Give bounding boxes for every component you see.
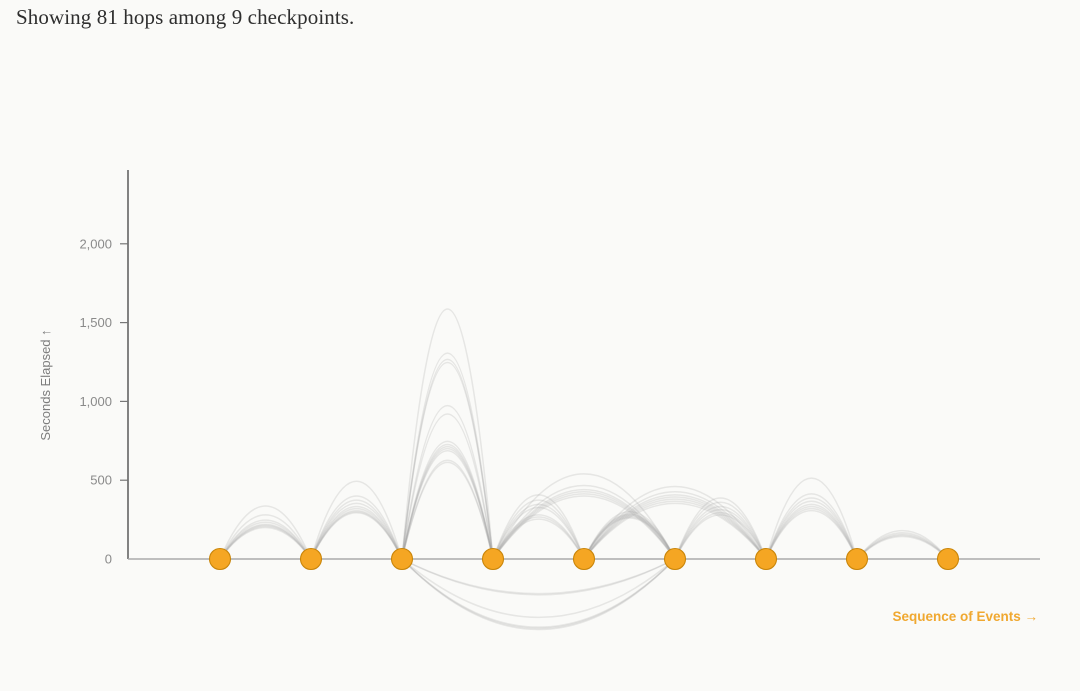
arc-edges-group bbox=[220, 309, 948, 630]
page-root: Showing 81 hops among 9 checkpoints. 050… bbox=[0, 0, 1080, 691]
axis-labels-group: Seconds Elapsed ↑Sequence of Events → bbox=[38, 329, 1038, 624]
y-tick-group: 05001,0001,5002,000 bbox=[79, 236, 128, 566]
y-tick-label: 0 bbox=[105, 552, 112, 567]
y-tick-label: 1,000 bbox=[79, 394, 112, 409]
y-tick-label: 1,500 bbox=[79, 315, 112, 330]
y-tick-label: 2,000 bbox=[79, 236, 112, 251]
x-axis-title: Sequence of Events → bbox=[892, 609, 1038, 624]
checkpoint-node[interactable] bbox=[847, 549, 868, 570]
checkpoint-node[interactable] bbox=[938, 549, 959, 570]
arc-edge bbox=[402, 309, 493, 559]
checkpoint-node[interactable] bbox=[756, 549, 777, 570]
arc-edge bbox=[402, 559, 675, 617]
arc-edge bbox=[766, 478, 857, 559]
arc-edge bbox=[220, 506, 311, 559]
checkpoint-node[interactable] bbox=[392, 549, 413, 570]
arc-edge bbox=[311, 481, 402, 559]
arc-edge bbox=[402, 451, 493, 559]
axis-group bbox=[128, 170, 1040, 559]
checkpoint-node[interactable] bbox=[665, 549, 686, 570]
arc-edge bbox=[857, 536, 948, 559]
y-tick-label: 500 bbox=[90, 473, 112, 488]
checkpoint-nodes-group bbox=[210, 549, 959, 570]
checkpoint-node[interactable] bbox=[210, 549, 231, 570]
arc-edge bbox=[493, 474, 675, 559]
y-axis-title: Seconds Elapsed ↑ bbox=[38, 329, 53, 440]
arc-edge bbox=[402, 462, 493, 559]
checkpoint-node[interactable] bbox=[574, 549, 595, 570]
checkpoint-node[interactable] bbox=[483, 549, 504, 570]
arc-diagram-chart: 05001,0001,5002,000 Seconds Elapsed ↑Seq… bbox=[0, 0, 1080, 691]
arc-edge bbox=[675, 515, 766, 559]
checkpoint-node[interactable] bbox=[301, 549, 322, 570]
arc-diagram-svg: 05001,0001,5002,000 Seconds Elapsed ↑Seq… bbox=[0, 0, 1080, 691]
